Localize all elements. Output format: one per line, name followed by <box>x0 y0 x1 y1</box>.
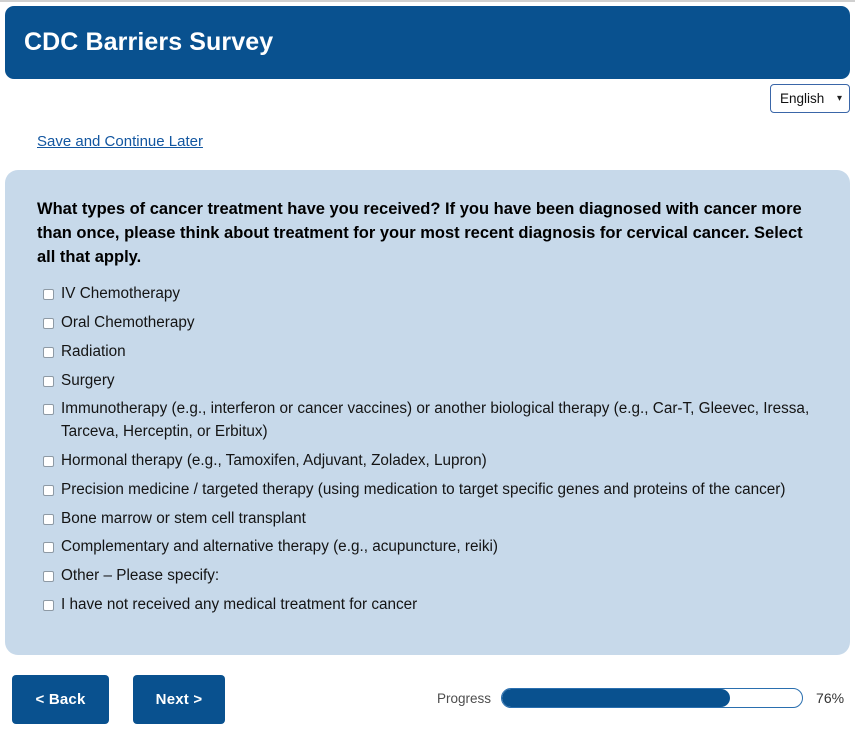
checkbox-option[interactable]: Radiation <box>37 341 818 364</box>
checkbox-option-label: Precision medicine / targeted therapy (u… <box>61 479 785 502</box>
checkbox-option-label: Surgery <box>61 370 115 393</box>
checkbox-input[interactable] <box>43 600 54 611</box>
footer-controls: < Back Next > Progress 76% <box>0 675 855 729</box>
language-select-wrapper[interactable]: English ▾ <box>770 84 850 113</box>
checkbox-option[interactable]: Complementary and alternative therapy (e… <box>37 536 818 559</box>
checkbox-option-label: I have not received any medical treatmen… <box>61 594 417 617</box>
question-panel: What types of cancer treatment have you … <box>5 170 850 655</box>
progress-bar <box>501 688 803 708</box>
checkbox-input[interactable] <box>43 456 54 467</box>
checkbox-option-label: Bone marrow or stem cell transplant <box>61 508 306 531</box>
progress-area: Progress 76% <box>437 688 844 708</box>
checkbox-input[interactable] <box>43 376 54 387</box>
next-button[interactable]: Next > <box>133 675 225 724</box>
checkbox-option[interactable]: Surgery <box>37 370 818 393</box>
checkbox-input[interactable] <box>43 542 54 553</box>
app-header: CDC Barriers Survey <box>5 6 850 79</box>
checkbox-option[interactable]: Precision medicine / targeted therapy (u… <box>37 479 818 502</box>
progress-bar-fill <box>502 689 730 707</box>
checkbox-input[interactable] <box>43 318 54 329</box>
checkbox-input[interactable] <box>43 571 54 582</box>
back-button[interactable]: < Back <box>12 675 109 724</box>
checkbox-option[interactable]: IV Chemotherapy <box>37 283 818 306</box>
checkbox-option[interactable]: Bone marrow or stem cell transplant <box>37 508 818 531</box>
checkbox-option-label: Radiation <box>61 341 126 364</box>
checkbox-option[interactable]: Hormonal therapy (e.g., Tamoxifen, Adjuv… <box>37 450 818 473</box>
checkbox-input[interactable] <box>43 347 54 358</box>
checkbox-option[interactable]: Immunotherapy (e.g., interferon or cance… <box>37 398 818 444</box>
save-and-continue-later-link[interactable]: Save and Continue Later <box>37 133 203 150</box>
checkbox-option-label: Hormonal therapy (e.g., Tamoxifen, Adjuv… <box>61 450 487 473</box>
checkbox-input[interactable] <box>43 485 54 496</box>
checkbox-options-list: IV ChemotherapyOral ChemotherapyRadiatio… <box>37 283 818 616</box>
checkbox-option-label: IV Chemotherapy <box>61 283 180 306</box>
language-select[interactable]: English <box>770 84 850 113</box>
checkbox-input[interactable] <box>43 289 54 300</box>
checkbox-input[interactable] <box>43 404 54 415</box>
checkbox-option[interactable]: Oral Chemotherapy <box>37 312 818 335</box>
checkbox-option-label: Other – Please specify: <box>61 565 219 588</box>
question-text: What types of cancer treatment have you … <box>37 198 818 269</box>
progress-label: Progress <box>437 691 491 706</box>
page-title: CDC Barriers Survey <box>5 29 273 57</box>
checkbox-input[interactable] <box>43 514 54 525</box>
language-row: English ▾ <box>0 84 850 113</box>
checkbox-option[interactable]: Other – Please specify: <box>37 565 818 588</box>
checkbox-option-label: Oral Chemotherapy <box>61 312 194 335</box>
checkbox-option-label: Complementary and alternative therapy (e… <box>61 536 498 559</box>
survey-page: CDC Barriers Survey English ▾ Save and C… <box>0 2 855 729</box>
progress-percent-text: 76% <box>816 690 844 706</box>
checkbox-option[interactable]: I have not received any medical treatmen… <box>37 594 818 617</box>
checkbox-option-label: Immunotherapy (e.g., interferon or cance… <box>61 398 818 444</box>
